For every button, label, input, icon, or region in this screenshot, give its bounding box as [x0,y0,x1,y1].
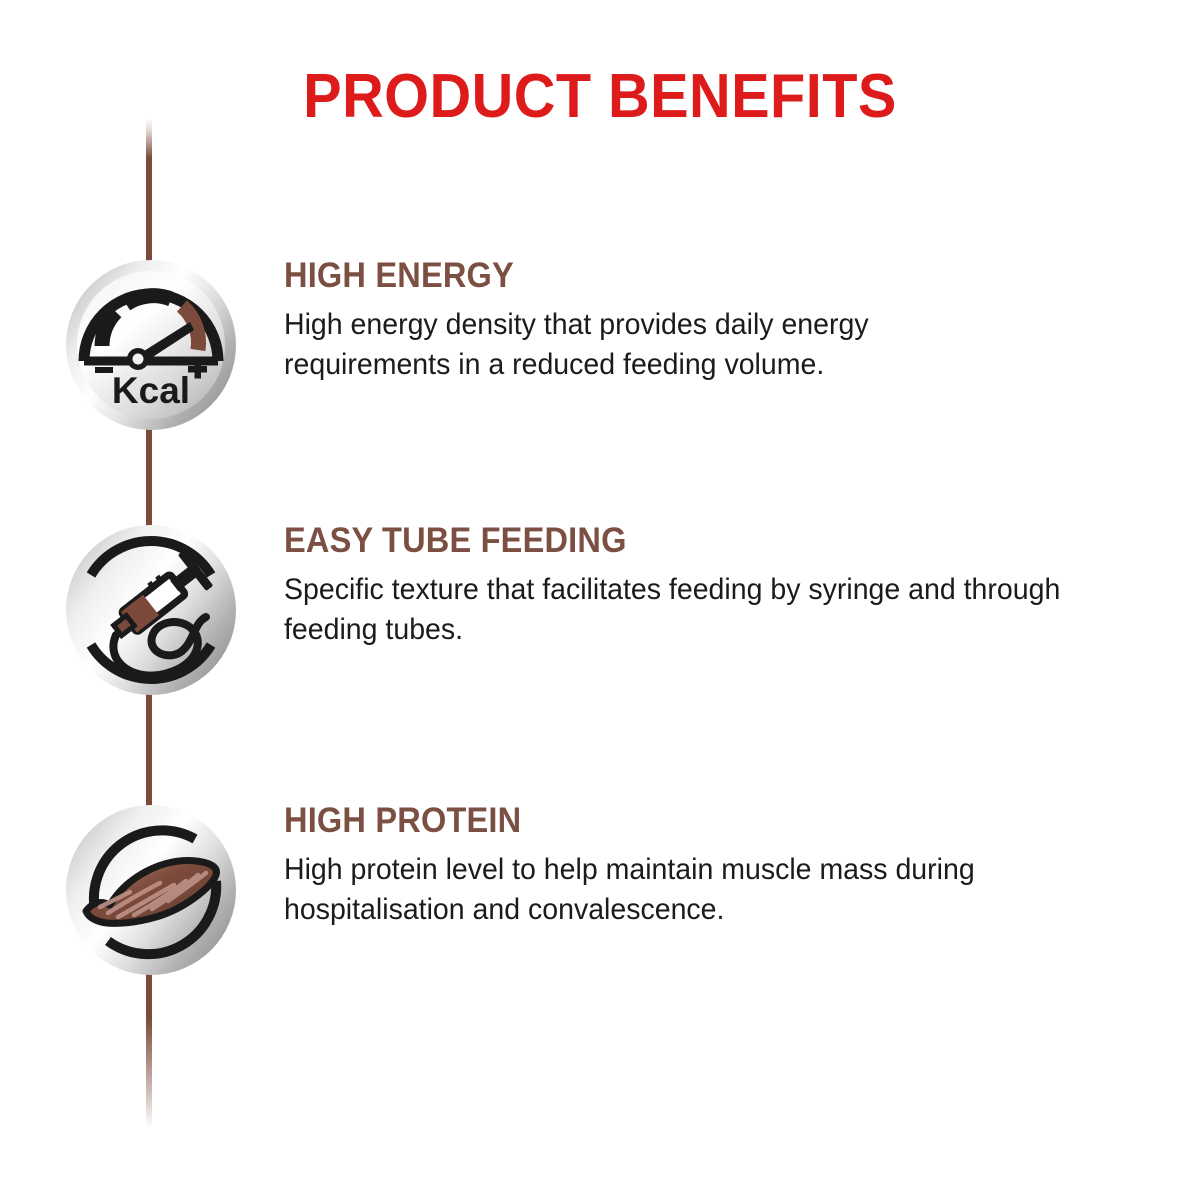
benefit-body: High protein level to help maintain musc… [284,850,1111,929]
product-benefits-infographic: PRODUCT BENEFITS [0,0,1200,1200]
benefit-body: Specific texture that facilitates feedin… [284,570,1101,649]
benefit-heading: HIGH ENERGY [284,258,1093,293]
benefit-text-high-protein: HIGH PROTEIN High protein level to help … [284,803,1154,929]
benefit-heading: EASY TUBE FEEDING [284,523,1093,558]
benefit-body: High energy density that provides daily … [284,305,987,384]
benefit-text-high-energy: HIGH ENERGY High energy density that pro… [284,258,1154,384]
kcal-gauge-icon: Kcal [64,258,238,432]
benefit-heading: HIGH PROTEIN [284,803,1093,838]
syringe-tube-icon [64,523,238,697]
kcal-label: Kcal [112,370,190,411]
page-title: PRODUCT BENEFITS [42,64,1158,129]
muscle-icon [64,803,238,977]
benefit-text-easy-tube-feeding: EASY TUBE FEEDING Specific texture that … [284,523,1154,649]
